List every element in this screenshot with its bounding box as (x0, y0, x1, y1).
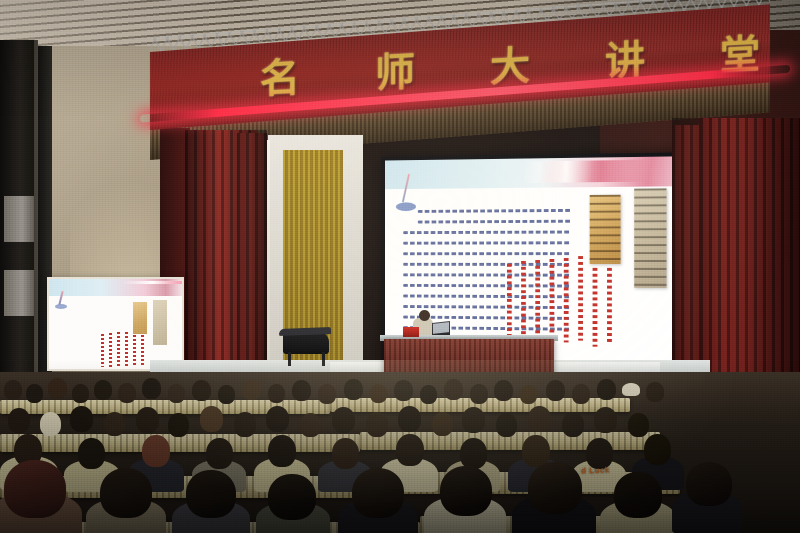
curtain-fold-shadow-right (672, 118, 800, 393)
slide-text-line (403, 241, 571, 244)
red-caption-column (521, 261, 526, 345)
side-calligraphy-scroll-grey (153, 300, 167, 345)
audience-head (4, 380, 22, 400)
audience-head (104, 412, 125, 436)
slide-text-line (403, 263, 571, 266)
audience-head (520, 385, 537, 404)
audience-head (344, 379, 363, 400)
audience-head (420, 385, 437, 404)
audience-head (546, 380, 565, 401)
audience-head (586, 438, 613, 469)
audience-head (597, 379, 616, 400)
audience-head (192, 380, 211, 401)
side-red-caption-column (101, 334, 104, 367)
audience-area (0, 372, 800, 533)
audience-head (168, 384, 185, 403)
piano-leg (288, 352, 291, 366)
audience-head (200, 406, 223, 432)
audience-head-foreground (440, 466, 492, 516)
audience-head (8, 408, 30, 433)
audience-head (370, 384, 387, 403)
column-grey-block-lower (4, 270, 34, 316)
slide-text-line (418, 209, 572, 213)
audience-head (496, 413, 517, 437)
audience-head (72, 384, 89, 403)
audience-head (332, 438, 359, 469)
side-red-caption-column (109, 333, 112, 367)
audience-head (332, 407, 355, 433)
audience-head (432, 412, 453, 436)
slide-text-line (403, 305, 571, 309)
column-grey-block-upper (4, 196, 34, 242)
slide-text-line (403, 252, 571, 255)
audience-head (300, 413, 321, 437)
red-caption-column (550, 259, 555, 343)
audience-head (136, 407, 159, 433)
desk-name-sign (403, 327, 419, 337)
audience-head (646, 382, 664, 402)
red-caption-column (607, 268, 612, 345)
audience-head (78, 438, 105, 469)
audience-head (594, 407, 617, 433)
red-caption-column (507, 264, 512, 346)
red-caption-column (578, 256, 583, 341)
audience-head (394, 380, 413, 401)
audience-head (460, 438, 487, 469)
audience-head (572, 384, 590, 404)
audience-head (242, 379, 261, 400)
audience-head-foreground (528, 462, 582, 514)
presenter-head (419, 310, 430, 321)
calligraphy-scroll-grey (634, 188, 666, 287)
side-red-caption-column (133, 335, 136, 366)
audience-head-foreground (4, 460, 66, 518)
audience-head (142, 435, 170, 467)
audience-head (218, 385, 235, 404)
audience-head (396, 434, 424, 466)
audience-head (268, 384, 285, 403)
side-slide-bullet (55, 304, 67, 309)
side-wall-monitor[interactable] (47, 277, 184, 371)
audience-head (644, 434, 671, 465)
audience-head (470, 384, 488, 404)
audience-head (562, 412, 584, 437)
curtain-fold-shadow-left (185, 130, 267, 380)
audience-head-foreground (268, 474, 316, 520)
lecture-hall-photo: 名 师 大 讲 堂 (0, 0, 800, 533)
slide-text-line (403, 295, 571, 299)
audience-head (462, 407, 485, 433)
audience-head (234, 412, 256, 437)
slide-text-line (403, 273, 571, 276)
audience-head (292, 380, 311, 401)
audience-head (206, 438, 233, 469)
audience-cap (622, 383, 640, 396)
audience-head (26, 384, 43, 403)
side-red-caption-column (117, 332, 120, 366)
audience-head (494, 380, 513, 401)
red-caption-column (593, 268, 598, 347)
side-slide-surface (49, 279, 182, 369)
audience-head (628, 413, 649, 437)
slide-text-line (418, 220, 572, 224)
side-calligraphy-scroll-amber (133, 302, 147, 334)
audience-head (70, 406, 93, 432)
audience-head (268, 435, 296, 467)
presenter-laptop-screen (433, 322, 449, 334)
audience-head (48, 378, 67, 399)
slide-text-line (403, 231, 571, 235)
audience-head-foreground (686, 462, 732, 506)
slide-text-line (403, 284, 571, 288)
audience-head (94, 380, 112, 400)
side-red-caption-column (125, 332, 128, 366)
audience-head (118, 383, 136, 403)
audience-head (40, 412, 61, 436)
audience-head (444, 379, 463, 400)
audience-head (398, 406, 421, 432)
shirt-graphic-text: d Luck (581, 466, 610, 476)
side-red-caption-column (141, 335, 144, 366)
banner-char-2: 师 (375, 39, 415, 99)
red-caption-column (535, 260, 540, 344)
side-slide-header-streak (122, 281, 182, 284)
audience-head-foreground (186, 470, 236, 518)
audience-head-foreground (100, 468, 152, 518)
audience-head-foreground (352, 468, 404, 518)
audience-head (528, 406, 551, 432)
audience-head (142, 378, 161, 399)
piano-leg (322, 352, 325, 366)
audience-head (266, 406, 289, 432)
audience-head-foreground (614, 472, 662, 518)
calligraphy-scroll-amber (590, 195, 621, 264)
banner-char-1: 名 (260, 45, 300, 105)
red-caption-column (564, 258, 569, 342)
audience-head (168, 413, 189, 437)
audience-head (366, 412, 388, 437)
audience-head (318, 384, 336, 404)
